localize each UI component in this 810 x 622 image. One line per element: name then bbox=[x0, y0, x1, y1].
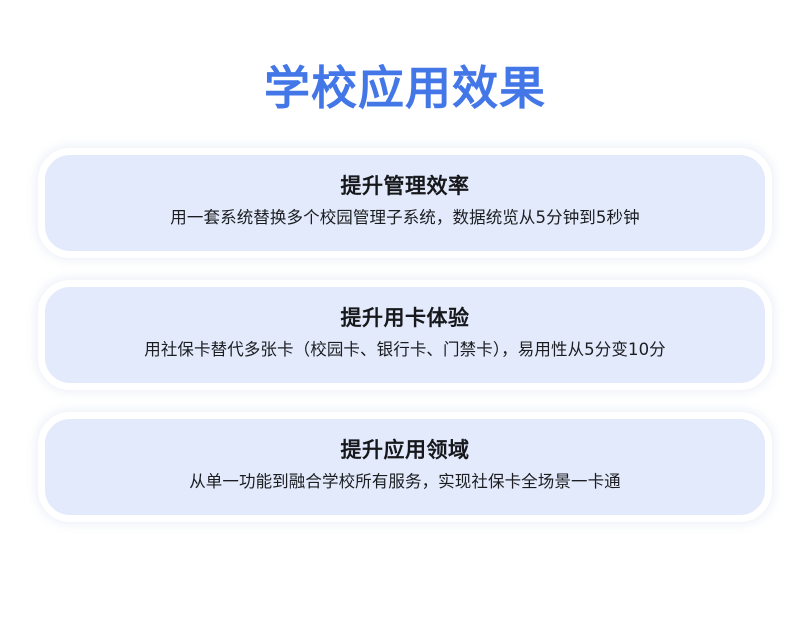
benefit-card-body: 用社保卡替代多张卡（校园卡、银行卡、门禁卡），易用性从5分变10分 bbox=[75, 336, 735, 363]
benefit-card-heading: 提升管理效率 bbox=[75, 171, 735, 201]
benefit-card: 提升管理效率 用一套系统替换多个校园管理子系统，数据统览从5分钟到5秒钟 bbox=[38, 148, 772, 258]
benefit-card: 提升用卡体验 用社保卡替代多张卡（校园卡、银行卡、门禁卡），易用性从5分变10分 bbox=[38, 280, 772, 390]
benefit-card-body: 从单一功能到融合学校所有服务，实现社保卡全场景一卡通 bbox=[75, 468, 735, 495]
page-root: 学校应用效果 提升管理效率 用一套系统替换多个校园管理子系统，数据统览从5分钟到… bbox=[0, 0, 810, 622]
benefit-card-heading: 提升用卡体验 bbox=[75, 303, 735, 333]
page-title: 学校应用效果 bbox=[0, 60, 810, 116]
benefit-card-heading: 提升应用领域 bbox=[75, 435, 735, 465]
benefit-card: 提升应用领域 从单一功能到融合学校所有服务，实现社保卡全场景一卡通 bbox=[38, 412, 772, 522]
benefit-card-body: 用一套系统替换多个校园管理子系统，数据统览从5分钟到5秒钟 bbox=[75, 204, 735, 231]
benefit-card-list: 提升管理效率 用一套系统替换多个校园管理子系统，数据统览从5分钟到5秒钟 提升用… bbox=[0, 148, 810, 522]
